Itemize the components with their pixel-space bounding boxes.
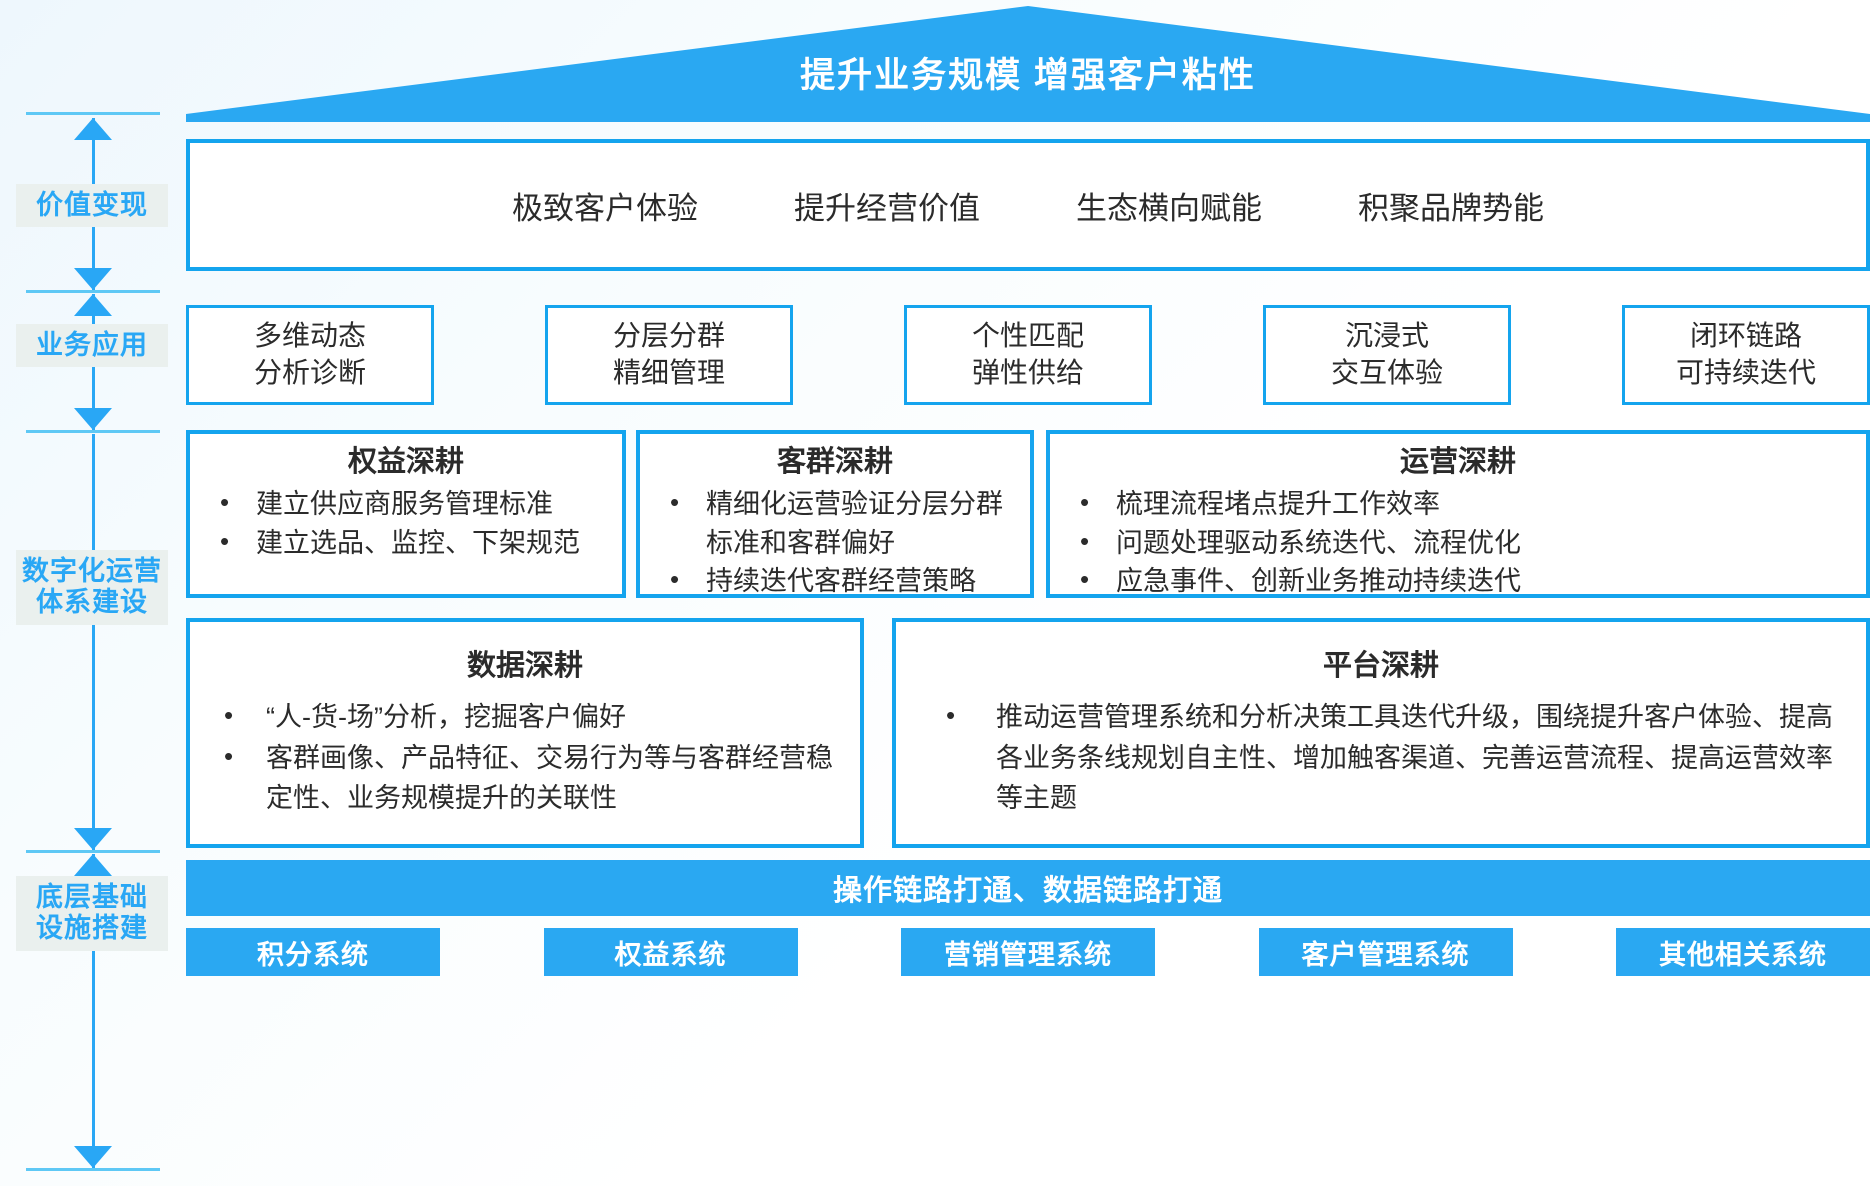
card-platform-deep-cultivation[interactable]: 平台深耕 推动运营管理系统和分析决策工具迭代升级，围绕提升客户体验、提高各业务条… — [892, 618, 1870, 848]
rail-tag-label-line2: 设施搭建 — [16, 913, 168, 944]
rail-tag-value-realization: 价值变现 — [16, 184, 168, 227]
left-rail: 价值变现 业务应用 数字化运营 体系建设 底层基础 设施搭建 — [12, 112, 172, 1174]
biz-line2: 可持续迭代 — [1676, 355, 1816, 392]
card-bullet-list: 推动运营管理系统和分析决策工具迭代升级，围绕提升客户体验、提高各业务条线规划自主… — [908, 697, 1854, 819]
link-through-bar: 操作链路打通、数据链路打通 — [186, 860, 1870, 916]
value-item-4: 积聚品牌势能 — [1358, 183, 1544, 228]
biz-line1: 个性匹配 — [972, 318, 1084, 355]
system-row: 积分系统 权益系统 营销管理系统 客户管理系统 其他相关系统 — [186, 928, 1870, 976]
card-bullet: 梳理流程堵点提升工作效率 — [1062, 485, 1854, 523]
biz-line2: 弹性供给 — [972, 355, 1084, 392]
card-title: 权益深耕 — [202, 446, 610, 479]
rail-arrow-up-4 — [74, 854, 112, 876]
system-card-points[interactable]: 积分系统 — [186, 928, 440, 976]
rail-tag-label: 业务应用 — [16, 330, 168, 361]
value-realization-box: 极致客户体验 提升经营价值 生态横向赋能 积聚品牌势能 — [186, 139, 1870, 271]
card-title: 平台深耕 — [908, 650, 1854, 683]
card-bullet: 建立选品、监控、下架规范 — [202, 524, 610, 562]
value-item-2: 提升经营价值 — [794, 183, 980, 228]
biz-line2: 精细管理 — [613, 355, 725, 392]
system-card-marketing[interactable]: 营销管理系统 — [901, 928, 1155, 976]
rail-tag-infrastructure: 底层基础 设施搭建 — [16, 876, 168, 951]
rail-arrow-up-2 — [74, 294, 112, 316]
biz-line2: 交互体验 — [1331, 355, 1443, 392]
rail-divider-bottom — [26, 1168, 160, 1171]
business-application-card-2[interactable]: 分层分群 精细管理 — [545, 305, 793, 405]
rail-arrow-up-1 — [74, 118, 112, 140]
card-customer-group-deep-cultivation[interactable]: 客群深耕 精细化运营验证分层分群标准和客群偏好 持续迭代客群经营策略 — [636, 430, 1034, 598]
card-title: 数据深耕 — [202, 650, 848, 683]
rail-tag-business-application: 业务应用 — [16, 324, 168, 367]
diagram-root: 提升业务规模 增强客户粘性 价值变现 业务应用 数字化运营 体系建设 底层 — [0, 0, 1876, 1186]
rail-tag-label-line1: 数字化运营 — [16, 556, 168, 587]
card-title: 运营深耕 — [1062, 446, 1854, 479]
card-data-deep-cultivation[interactable]: 数据深耕 “人-货-场”分析，挖掘客户偏好 客群画像、产品特征、交易行为等与客群… — [186, 618, 864, 848]
rail-divider-top — [26, 112, 160, 115]
rail-divider-1 — [26, 290, 160, 293]
rail-arrow-down-4 — [74, 1146, 112, 1168]
card-bullet-list: 梳理流程堵点提升工作效率 问题处理驱动系统迭代、流程优化 应急事件、创新业务推动… — [1062, 485, 1854, 600]
value-item-1: 极致客户体验 — [512, 183, 698, 228]
value-realization-items: 极致客户体验 提升经营价值 生态横向赋能 积聚品牌势能 — [190, 143, 1866, 267]
card-bullet: “人-货-场”分析，挖掘客户偏好 — [202, 697, 848, 738]
card-bullet-list: 建立供应商服务管理标准 建立选品、监控、下架规范 — [202, 485, 610, 562]
roof-triangle: 提升业务规模 增强客户粘性 — [186, 6, 1870, 122]
rail-arrow-down-1 — [74, 268, 112, 290]
roof-title: 提升业务规模 增强客户粘性 — [186, 58, 1870, 93]
rail-tag-label-line1: 底层基础 — [16, 882, 168, 913]
card-bullet: 推动运营管理系统和分析决策工具迭代升级，围绕提升客户体验、提高各业务条线规划自主… — [908, 697, 1854, 819]
card-bullet: 应急事件、创新业务推动持续迭代 — [1062, 562, 1854, 600]
business-application-card-1[interactable]: 多维动态 分析诊断 — [186, 305, 434, 405]
business-application-row: 多维动态 分析诊断 分层分群 精细管理 个性匹配 弹性供给 沉浸式 交互体验 闭… — [186, 305, 1870, 405]
card-rights-deep-cultivation[interactable]: 权益深耕 建立供应商服务管理标准 建立选品、监控、下架规范 — [186, 430, 626, 598]
biz-line1: 分层分群 — [613, 318, 725, 355]
card-bullet: 问题处理驱动系统迭代、流程优化 — [1062, 524, 1854, 562]
system-card-other[interactable]: 其他相关系统 — [1616, 928, 1870, 976]
card-bullet: 持续迭代客群经营策略 — [652, 562, 1018, 600]
biz-line2: 分析诊断 — [254, 355, 366, 392]
biz-line1: 闭环链路 — [1690, 318, 1802, 355]
biz-line1: 沉浸式 — [1345, 318, 1429, 355]
rail-divider-3 — [26, 850, 160, 853]
rail-arrow-down-3 — [74, 828, 112, 850]
card-bullet-list: 精细化运营验证分层分群标准和客群偏好 持续迭代客群经营策略 — [652, 485, 1018, 600]
system-card-rights[interactable]: 权益系统 — [544, 928, 798, 976]
biz-line1: 多维动态 — [254, 318, 366, 355]
business-application-card-3[interactable]: 个性匹配 弹性供给 — [904, 305, 1152, 405]
card-bullet: 建立供应商服务管理标准 — [202, 485, 610, 523]
value-item-3: 生态横向赋能 — [1076, 183, 1262, 228]
rail-tag-label: 价值变现 — [16, 190, 168, 221]
rail-divider-2 — [26, 430, 160, 433]
card-operations-deep-cultivation[interactable]: 运营深耕 梳理流程堵点提升工作效率 问题处理驱动系统迭代、流程优化 应急事件、创… — [1046, 430, 1870, 598]
card-bullet-list: “人-货-场”分析，挖掘客户偏好 客群画像、产品特征、交易行为等与客群经营稳定性… — [202, 697, 848, 819]
business-application-card-5[interactable]: 闭环链路 可持续迭代 — [1622, 305, 1870, 405]
system-card-customer[interactable]: 客户管理系统 — [1259, 928, 1513, 976]
rail-axis-3 — [92, 434, 95, 850]
rail-tag-label-line2: 体系建设 — [16, 587, 168, 618]
card-title: 客群深耕 — [652, 446, 1018, 479]
rail-tag-digital-operation-system: 数字化运营 体系建设 — [16, 550, 168, 625]
business-application-card-4[interactable]: 沉浸式 交互体验 — [1263, 305, 1511, 405]
card-bullet: 精细化运营验证分层分群标准和客群偏好 — [652, 485, 1018, 562]
card-bullet: 客群画像、产品特征、交易行为等与客群经营稳定性、业务规模提升的关联性 — [202, 738, 848, 819]
rail-arrow-down-2 — [74, 408, 112, 430]
